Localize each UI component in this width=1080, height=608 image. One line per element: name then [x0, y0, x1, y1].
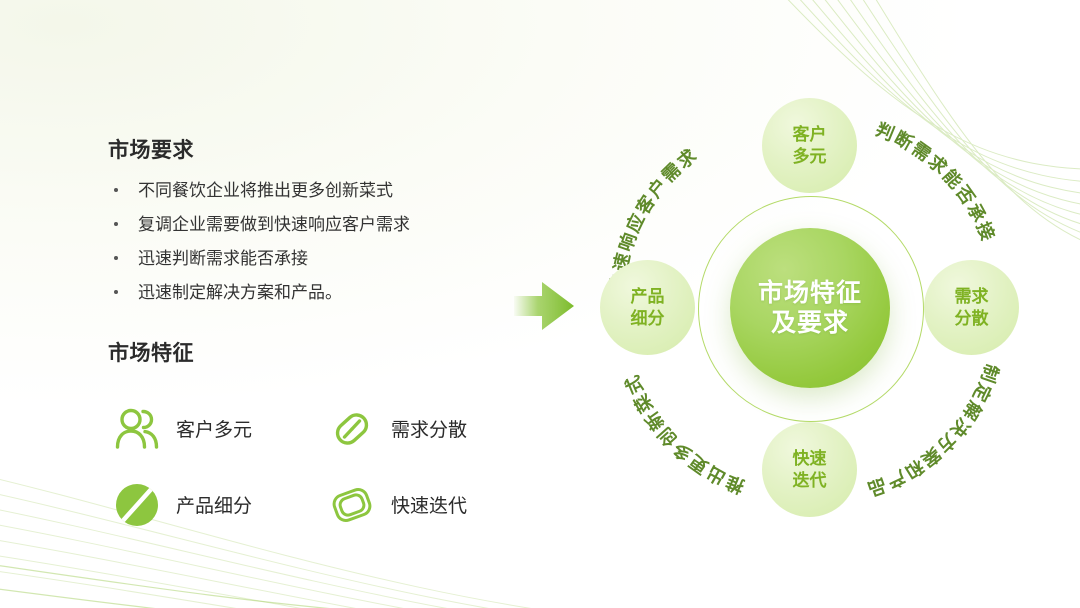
bullet-dot-icon	[114, 188, 118, 192]
list-item: 迅速判断需求能否承接	[108, 248, 538, 271]
bullet-dot-icon	[114, 290, 118, 294]
node-label: 需求 分散	[955, 286, 989, 330]
capsule-pill-icon	[323, 401, 381, 457]
feature-label: 客户多元	[176, 415, 252, 442]
node-fast-iteration[interactable]: 快速 迭代	[762, 422, 857, 517]
feature-item-demand-dispersion: 需求分散	[323, 391, 538, 467]
core-label: 市场特征 及要求	[758, 278, 862, 339]
list-item-label: 不同餐饮企业将推出更多创新菜式	[138, 181, 393, 200]
list-item-label: 迅速判断需求能否承接	[138, 249, 308, 268]
market-characteristics-diagram: 快速响应客户需求 判断需求能否承接 制定解决方案和产品 推出更多创新菜式 客户 …	[560, 58, 1060, 558]
left-content-column: 市场要求 不同餐饮企业将推出更多创新菜式 复调企业需要做到快速响应客户需求 迅速…	[108, 134, 538, 543]
market-requirements-list: 不同餐饮企业将推出更多创新菜式 复调企业需要做到快速响应客户需求 迅速判断需求能…	[108, 180, 538, 305]
bullet-dot-icon	[114, 256, 118, 260]
feature-label: 产品细分	[176, 491, 252, 518]
list-item: 不同餐饮企业将推出更多创新菜式	[108, 180, 538, 203]
node-product-segmentation[interactable]: 产品 细分	[600, 260, 695, 355]
node-label: 产品 细分	[631, 286, 665, 330]
arc-label-bottom-left: 推出更多创新菜式	[620, 371, 747, 498]
market-requirements-title: 市场要求	[108, 134, 538, 164]
node-demand-dispersion[interactable]: 需求 分散	[924, 260, 1019, 355]
node-customer-diversity[interactable]: 客户 多元	[762, 98, 857, 193]
feature-label: 快速迭代	[391, 491, 467, 518]
two-people-icon	[108, 401, 166, 457]
market-features-grid: 客户多元 需求分散	[108, 391, 538, 543]
node-label: 客户 多元	[793, 124, 827, 168]
bullet-dot-icon	[114, 222, 118, 226]
feature-item-customer-diversity: 客户多元	[108, 391, 323, 467]
market-features-title: 市场特征	[108, 337, 538, 367]
sliced-circle-icon	[108, 477, 166, 533]
node-label: 快速 迭代	[793, 448, 827, 492]
feature-label: 需求分散	[391, 415, 467, 442]
feature-item-product-segmentation: 产品细分	[108, 467, 323, 543]
list-item: 复调企业需要做到快速响应客户需求	[108, 214, 538, 237]
list-item-label: 迅速制定解决方案和产品。	[138, 283, 342, 302]
list-item-label: 复调企业需要做到快速响应客户需求	[138, 215, 410, 234]
slide-canvas: 市场要求 不同餐饮企业将推出更多创新菜式 复调企业需要做到快速响应客户需求 迅速…	[0, 0, 1080, 608]
arc-label-top-right: 判断需求能否承接	[873, 119, 1000, 245]
feature-item-fast-iteration: 快速迭代	[323, 467, 538, 543]
list-item: 迅速制定解决方案和产品。	[108, 282, 538, 305]
diagram-core-circle[interactable]: 市场特征 及要求	[730, 228, 890, 388]
rounded-square-loop-icon	[323, 477, 381, 533]
